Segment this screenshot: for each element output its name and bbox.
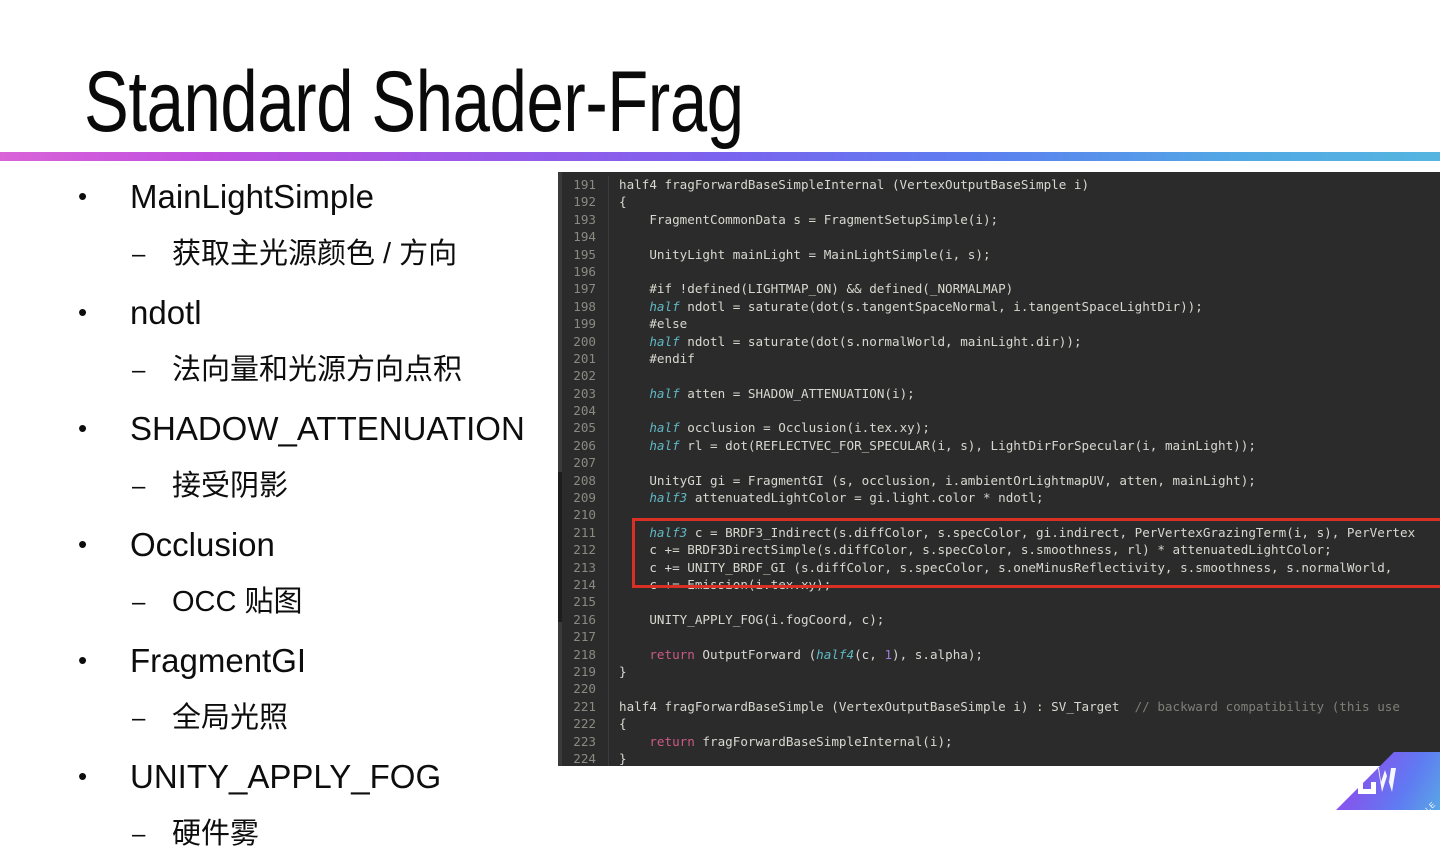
code-line: 211 half3 c = BRDF3_Indirect(s.diffColor… xyxy=(562,524,1440,541)
code-line-text: return OutputForward (half4(c, 1), s.alp… xyxy=(615,646,1440,663)
code-line: 195 UnityLight mainLight = MainLightSimp… xyxy=(562,246,1440,263)
code-line-number: 199 xyxy=(562,315,608,332)
code-line-number: 198 xyxy=(562,298,608,315)
code-line-number: 191 xyxy=(562,176,608,193)
code-line: 197 #if !defined(LIGHTMAP_ON) && defined… xyxy=(562,280,1440,297)
code-line-text: half3 attenuatedLightColor = gi.light.co… xyxy=(615,489,1440,506)
code-line: 214 c += Emission(i.tex.xy); xyxy=(562,576,1440,593)
bullet-dash-icon: – xyxy=(132,807,172,862)
bullet-label: MainLightSimple xyxy=(130,166,374,227)
bullet-list: •MainLightSimple–获取主光源颜色 / 方向•ndotl–法向量和… xyxy=(78,166,558,862)
code-line-text: half ndotl = saturate(dot(s.tangentSpace… xyxy=(615,298,1440,315)
code-line: 196 xyxy=(562,263,1440,280)
code-text: ndotl = saturate(dot(s.normalWorld, main… xyxy=(680,334,1082,349)
code-line-number: 213 xyxy=(562,559,608,576)
bullet-dot-icon: • xyxy=(78,630,130,691)
code-line: 205 half occlusion = Occlusion(i.tex.xy)… xyxy=(562,419,1440,436)
bullet-item-level1: •Occlusion xyxy=(78,514,558,575)
code-line-number: 222 xyxy=(562,715,608,732)
code-text: ndotl = saturate(dot(s.tangentSpaceNorma… xyxy=(680,299,1203,314)
code-line-number: 220 xyxy=(562,680,608,697)
page-title: Standard Shader-Frag xyxy=(84,54,744,150)
code-line: 193 FragmentCommonData s = FragmentSetup… xyxy=(562,211,1440,228)
code-gutter xyxy=(608,211,615,228)
code-gutter xyxy=(608,680,615,697)
bullet-item-level2: –接受阴影 xyxy=(78,459,558,514)
code-line-number: 192 xyxy=(562,193,608,210)
code-line-number: 196 xyxy=(562,263,608,280)
code-text: UnityGI gi = FragmentGI (s, occlusion, i… xyxy=(619,473,1256,488)
code-line-number: 200 xyxy=(562,333,608,350)
uw-logo-icon xyxy=(1354,766,1400,806)
code-line-text: return fragForwardBaseSimpleInternal(i); xyxy=(615,733,1440,750)
code-line: 218 return OutputForward (half4(c, 1), s… xyxy=(562,646,1440,663)
code-gutter xyxy=(608,489,615,506)
code-line-number: 194 xyxy=(562,228,608,245)
bullet-dash-icon: – xyxy=(132,459,172,514)
code-line-number: 211 xyxy=(562,524,608,541)
code-line-text: UnityLight mainLight = MainLightSimple(i… xyxy=(615,246,1440,263)
code-keyword: half3 xyxy=(649,490,687,505)
code-line-number: 224 xyxy=(562,750,608,766)
bullet-dot-icon: • xyxy=(78,282,130,343)
code-gutter xyxy=(608,541,615,558)
code-line: 215 xyxy=(562,593,1440,610)
bullet-dot-icon: • xyxy=(78,746,130,807)
bullet-label: 接受阴影 xyxy=(172,459,288,514)
bullet-item-level2: –法向量和光源方向点积 xyxy=(78,343,558,398)
code-gutter xyxy=(608,402,615,419)
code-line: 199 #else xyxy=(562,315,1440,332)
code-line: 194 xyxy=(562,228,1440,245)
code-text: c += Emission(i.tex.xy); xyxy=(619,577,831,592)
bullet-label: 全局光照 xyxy=(172,691,288,746)
code-text: UnityLight mainLight = MainLightSimple(i… xyxy=(619,247,991,262)
code-line-number: 197 xyxy=(562,280,608,297)
code-line: 209 half3 attenuatedLightColor = gi.ligh… xyxy=(562,489,1440,506)
code-line-number: 195 xyxy=(562,246,608,263)
code-line-number: 202 xyxy=(562,367,608,384)
code-line: 219} xyxy=(562,663,1440,680)
code-gutter xyxy=(608,298,615,315)
code-line-number: 214 xyxy=(562,576,608,593)
code-keyword: half xyxy=(649,438,679,453)
code-gutter xyxy=(608,263,615,280)
code-gutter xyxy=(608,367,615,384)
code-line: 213 c += UNITY_BRDF_GI (s.diffColor, s.s… xyxy=(562,559,1440,576)
bullet-item-level1: •ndotl xyxy=(78,282,558,343)
code-line-text: #else xyxy=(615,315,1440,332)
code-line-text: half3 c = BRDF3_Indirect(s.diffColor, s.… xyxy=(615,524,1440,541)
code-keyword: half4 xyxy=(816,647,854,662)
code-gutter xyxy=(608,193,615,210)
code-text: rl = dot(REFLECTVEC_FOR_SPECULAR(i, s), … xyxy=(680,438,1256,453)
bullet-item-level1: •MainLightSimple xyxy=(78,166,558,227)
code-gutter xyxy=(608,333,615,350)
code-line: 208 UnityGI gi = FragmentGI (s, occlusio… xyxy=(562,472,1440,489)
code-gutter xyxy=(608,698,615,715)
bullet-item-level1: •UNITY_APPLY_FOG xyxy=(78,746,558,807)
code-text: { xyxy=(619,194,627,209)
code-gutter xyxy=(608,176,615,193)
code-line-text: { xyxy=(615,193,1440,210)
code-line-text xyxy=(615,506,1440,523)
code-line: 200 half ndotl = saturate(dot(s.normalWo… xyxy=(562,333,1440,350)
title-underline-gradient xyxy=(0,152,1440,161)
code-gutter xyxy=(608,454,615,471)
code-line-number: 208 xyxy=(562,472,608,489)
code-gutter xyxy=(608,559,615,576)
code-panel: 191half4 fragForwardBaseSimpleInternal (… xyxy=(558,172,1440,766)
bullet-label: FragmentGI xyxy=(130,630,306,691)
code-line-number: 215 xyxy=(562,593,608,610)
code-line: 201 #endif xyxy=(562,350,1440,367)
code-line: 198 half ndotl = saturate(dot(s.tangentS… xyxy=(562,298,1440,315)
code-line-number: 216 xyxy=(562,611,608,628)
code-line-number: 206 xyxy=(562,437,608,454)
bullet-label: ndotl xyxy=(130,282,202,343)
bullet-label: Occlusion xyxy=(130,514,275,575)
code-line-text: half4 fragForwardBaseSimple (VertexOutpu… xyxy=(615,698,1440,715)
code-line-text xyxy=(615,402,1440,419)
code-line-text xyxy=(615,680,1440,697)
code-comment: // backward compatibility (this use xyxy=(1119,699,1400,714)
code-line: 220 xyxy=(562,680,1440,697)
code-line: 222{ xyxy=(562,715,1440,732)
code-text: OutputForward ( xyxy=(695,647,816,662)
code-keyword: half3 xyxy=(649,525,687,540)
bullet-label: 硬件雾 xyxy=(172,807,259,862)
code-line: 203 half atten = SHADOW_ATTENUATION(i); xyxy=(562,385,1440,402)
corner-logo: MAKE IT SIMPLE xyxy=(1336,752,1440,810)
code-line: 223 return fragForwardBaseSimpleInternal… xyxy=(562,733,1440,750)
code-line-text: half4 fragForwardBaseSimpleInternal (Ver… xyxy=(615,176,1440,193)
code-text: c = BRDF3_Indirect(s.diffColor, s.specCo… xyxy=(687,525,1415,540)
code-line: 210 xyxy=(562,506,1440,523)
code-line-text: half ndotl = saturate(dot(s.normalWorld,… xyxy=(615,333,1440,350)
code-line-number: 204 xyxy=(562,402,608,419)
code-line-text xyxy=(615,228,1440,245)
code-line: 204 xyxy=(562,402,1440,419)
code-line-number: 193 xyxy=(562,211,608,228)
code-text: c += UNITY_BRDF_GI (s.diffColor, s.specC… xyxy=(619,560,1392,575)
code-text: UNITY_APPLY_FOG(i.fogCoord, c); xyxy=(619,612,884,627)
code-text: #if !defined(LIGHTMAP_ON) && defined(_NO… xyxy=(619,281,1013,296)
code-line-number: 223 xyxy=(562,733,608,750)
code-line: 207 xyxy=(562,454,1440,471)
code-text: half4 fragForwardBaseSimpleInternal (Ver… xyxy=(619,177,1089,192)
code-gutter xyxy=(608,576,615,593)
code-line: 221half4 fragForwardBaseSimple (VertexOu… xyxy=(562,698,1440,715)
code-gutter xyxy=(608,350,615,367)
code-keyword: half xyxy=(649,420,679,435)
code-keyword: half xyxy=(649,299,679,314)
bullet-dot-icon: • xyxy=(78,166,130,227)
code-line: 216 UNITY_APPLY_FOG(i.fogCoord, c); xyxy=(562,611,1440,628)
code-line-text: } xyxy=(615,663,1440,680)
code-line-text: half rl = dot(REFLECTVEC_FOR_SPECULAR(i,… xyxy=(615,437,1440,454)
code-line-number: 212 xyxy=(562,541,608,558)
code-gutter xyxy=(608,715,615,732)
code-line: 206 half rl = dot(REFLECTVEC_FOR_SPECULA… xyxy=(562,437,1440,454)
bullet-dot-icon: • xyxy=(78,398,130,459)
code-line-number: 219 xyxy=(562,663,608,680)
code-gutter xyxy=(608,506,615,523)
code-gutter xyxy=(608,437,615,454)
code-lines: 191half4 fragForwardBaseSimpleInternal (… xyxy=(562,176,1440,766)
code-text: occlusion = Occlusion(i.tex.xy); xyxy=(680,420,930,435)
code-gutter xyxy=(608,280,615,297)
code-line: 224} xyxy=(562,750,1440,766)
code-line-number: 207 xyxy=(562,454,608,471)
code-gutter xyxy=(608,733,615,750)
code-line-text: half occlusion = Occlusion(i.tex.xy); xyxy=(615,419,1440,436)
bullet-label: 法向量和光源方向点积 xyxy=(172,343,462,398)
code-gutter xyxy=(608,385,615,402)
code-text: c += BRDF3DirectSimple(s.diffColor, s.sp… xyxy=(619,542,1332,557)
code-line-number: 201 xyxy=(562,350,608,367)
code-line: 192{ xyxy=(562,193,1440,210)
code-gutter xyxy=(608,646,615,663)
code-line-text: #if !defined(LIGHTMAP_ON) && defined(_NO… xyxy=(615,280,1440,297)
code-gutter xyxy=(608,663,615,680)
code-text: ), s.alpha); xyxy=(892,647,983,662)
code-line-text: } xyxy=(615,750,1440,766)
code-text: FragmentCommonData s = FragmentSetupSimp… xyxy=(619,212,998,227)
bullet-item-level2: –全局光照 xyxy=(78,691,558,746)
bullet-dash-icon: – xyxy=(132,343,172,398)
code-line-text: c += BRDF3DirectSimple(s.diffColor, s.sp… xyxy=(615,541,1440,558)
code-number: 1 xyxy=(884,647,892,662)
bullet-label: UNITY_APPLY_FOG xyxy=(130,746,441,807)
code-line-number: 205 xyxy=(562,419,608,436)
bullet-dash-icon: – xyxy=(132,691,172,746)
code-text: { xyxy=(619,716,627,731)
code-keyword: half xyxy=(649,386,679,401)
code-text: } xyxy=(619,751,627,766)
code-text: fragForwardBaseSimpleInternal(i); xyxy=(695,734,953,749)
code-line-text xyxy=(615,454,1440,471)
code-line-text: UNITY_APPLY_FOG(i.fogCoord, c); xyxy=(615,611,1440,628)
bullet-item-level2: –OCC 贴图 xyxy=(78,575,558,630)
bullet-item-level1: •FragmentGI xyxy=(78,630,558,691)
code-gutter xyxy=(608,246,615,263)
code-text: (c, xyxy=(854,647,884,662)
code-line-text: UnityGI gi = FragmentGI (s, occlusion, i… xyxy=(615,472,1440,489)
code-line: 217 xyxy=(562,628,1440,645)
code-text: attenuatedLightColor = gi.light.color * … xyxy=(687,490,1043,505)
code-gutter xyxy=(608,472,615,489)
code-gutter xyxy=(608,593,615,610)
code-line-text xyxy=(615,593,1440,610)
code-line-text: half atten = SHADOW_ATTENUATION(i); xyxy=(615,385,1440,402)
bullet-label: 获取主光源颜色 / 方向 xyxy=(172,227,457,282)
code-keyword-return: return xyxy=(649,734,695,749)
bullet-dash-icon: – xyxy=(132,575,172,630)
code-gutter xyxy=(608,228,615,245)
bullet-item-level1: •SHADOW_ATTENUATION xyxy=(78,398,558,459)
code-gutter xyxy=(608,315,615,332)
code-text: #else xyxy=(619,316,687,331)
code-gutter xyxy=(608,524,615,541)
code-line: 212 c += BRDF3DirectSimple(s.diffColor, … xyxy=(562,541,1440,558)
code-gutter xyxy=(608,419,615,436)
code-text: } xyxy=(619,664,627,679)
bullet-label: SHADOW_ATTENUATION xyxy=(130,398,525,459)
code-line-number: 210 xyxy=(562,506,608,523)
code-line-number: 203 xyxy=(562,385,608,402)
bullet-item-level2: –硬件雾 xyxy=(78,807,558,862)
code-line-number: 218 xyxy=(562,646,608,663)
bullet-label: OCC 贴图 xyxy=(172,575,303,630)
code-gutter xyxy=(608,628,615,645)
code-line-text xyxy=(615,263,1440,280)
code-line-text: #endif xyxy=(615,350,1440,367)
code-text: half4 fragForwardBaseSimple (VertexOutpu… xyxy=(619,699,1119,714)
code-line-text: c += Emission(i.tex.xy); xyxy=(615,576,1440,593)
code-line-number: 217 xyxy=(562,628,608,645)
code-line-number: 209 xyxy=(562,489,608,506)
code-line-text xyxy=(615,628,1440,645)
code-keyword: half xyxy=(649,334,679,349)
code-line-text: { xyxy=(615,715,1440,732)
code-keyword-return: return xyxy=(649,647,695,662)
code-text: #endif xyxy=(619,351,695,366)
code-line-text: c += UNITY_BRDF_GI (s.diffColor, s.specC… xyxy=(615,559,1440,576)
code-line-text: FragmentCommonData s = FragmentSetupSimp… xyxy=(615,211,1440,228)
bullet-dot-icon: • xyxy=(78,514,130,575)
code-text: atten = SHADOW_ATTENUATION(i); xyxy=(680,386,915,401)
code-gutter xyxy=(608,750,615,766)
code-line: 191half4 fragForwardBaseSimpleInternal (… xyxy=(562,176,1440,193)
code-line: 202 xyxy=(562,367,1440,384)
code-line-number: 221 xyxy=(562,698,608,715)
bullet-dash-icon: – xyxy=(132,227,172,282)
code-gutter xyxy=(608,611,615,628)
bullet-item-level2: –获取主光源颜色 / 方向 xyxy=(78,227,558,282)
code-line-text xyxy=(615,367,1440,384)
